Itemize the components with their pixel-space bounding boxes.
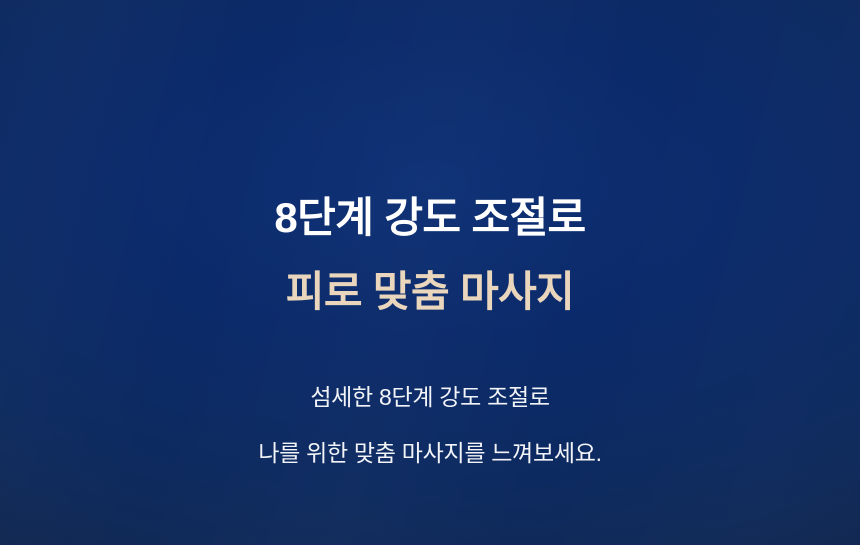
- headline: 8단계 강도 조절로 피로 맞춤 마사지: [0, 0, 860, 313]
- subtitle-line-1: 섬세한 8단계 강도 조절로: [0, 313, 860, 409]
- headline-line-1: 8단계 강도 조절로: [0, 0, 860, 239]
- banner-content: 8단계 강도 조절로 피로 맞춤 마사지 섬세한 8단계 강도 조절로 나를 위…: [0, 0, 860, 465]
- subtitle: 섬세한 8단계 강도 조절로 나를 위한 맞춤 마사지를 느껴보세요.: [0, 313, 860, 465]
- headline-line-2: 피로 맞춤 마사지: [0, 239, 860, 313]
- promo-banner: 8단계 강도 조절로 피로 맞춤 마사지 섬세한 8단계 강도 조절로 나를 위…: [0, 0, 860, 545]
- subtitle-line-2: 나를 위한 맞춤 마사지를 느껴보세요.: [0, 409, 860, 465]
